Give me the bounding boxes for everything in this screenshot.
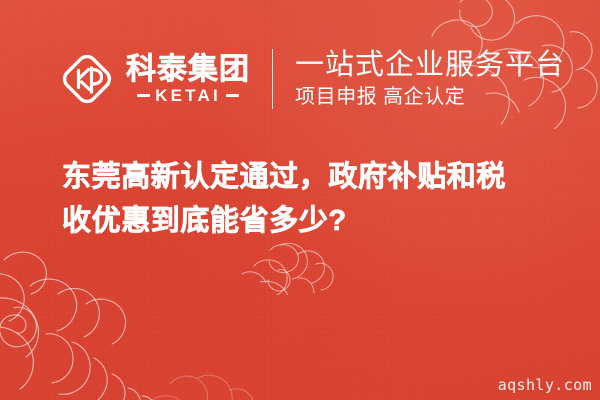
brand-name-cn: 科泰集团	[126, 54, 250, 86]
brand-wordmark: 科泰集团 KETAI	[126, 54, 250, 105]
headline-line-1: 东莞高新认定通过，政府补贴和税	[62, 155, 567, 199]
headline: 东莞高新认定通过，政府补贴和税 收优惠到底能省多少?	[62, 155, 567, 243]
brand-latin-row: KETAI	[137, 87, 239, 105]
header-vertical-divider	[272, 49, 273, 109]
tagline-block: 一站式企业服务平台 项目申报 高企认定	[295, 49, 565, 109]
cloud-decoration-bottom-center	[150, 360, 290, 400]
banner-header: 科泰集团 KETAI 一站式企业服务平台 项目申报 高企认定	[0, 40, 600, 118]
tagline-primary: 一站式企业服务平台	[295, 49, 565, 82]
brand-logo: 科泰集团 KETAI	[58, 50, 250, 108]
promotional-banner: 科泰集团 KETAI 一站式企业服务平台 项目申报 高企认定 东莞高新认定通过，…	[0, 0, 600, 400]
headline-line-2: 收优惠到底能省多少?	[62, 199, 567, 243]
ketai-diamond-kp-monogram-icon	[58, 50, 116, 108]
brand-name-latin: KETAI	[155, 87, 221, 105]
wordmark-rule-right	[226, 94, 239, 97]
wordmark-rule-left	[137, 94, 150, 97]
cloud-decoration-bottom-left	[0, 246, 211, 400]
site-watermark: aqshly.com	[498, 376, 592, 394]
tagline-secondary: 项目申报 高企认定	[295, 85, 565, 109]
cloud-decoration-center	[240, 240, 350, 295]
